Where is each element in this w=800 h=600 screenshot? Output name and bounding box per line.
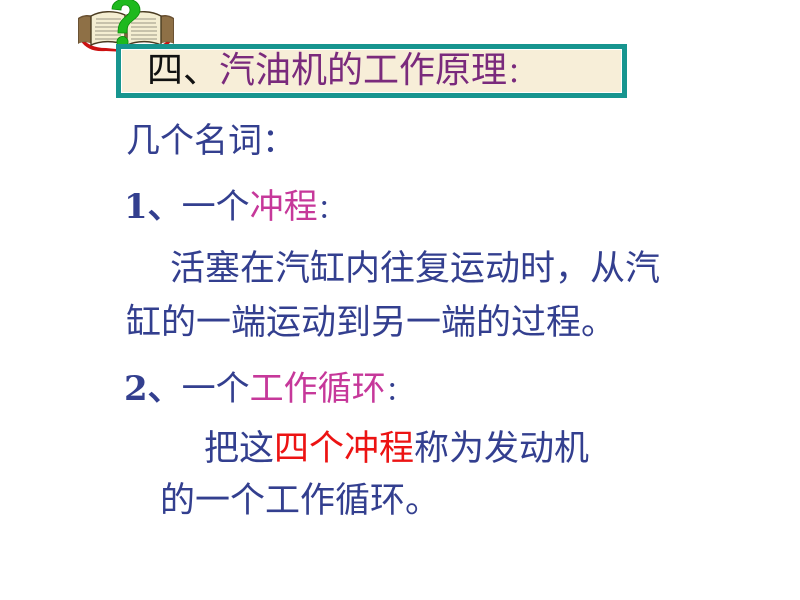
term-item-2: 2、一个工作循环： (124, 372, 412, 406)
term-2-definition-line-2: 的一个工作循环。 (160, 484, 440, 519)
term-item-2-number: 2、 (124, 369, 182, 409)
page-title: 四、汽油机的工作原理： (147, 53, 535, 89)
title-frame: 四、汽油机的工作原理： (116, 44, 627, 98)
slide-canvas: 四、汽油机的工作原理： 几个名词： 1、一个冲程： 活塞在汽缸内往复运动时，从汽… (0, 0, 800, 600)
term-2-definition-pre: 把这 (204, 429, 274, 469)
term-2-definition-highlight: 四个冲程 (274, 429, 414, 469)
term-item-2-colon: ： (386, 376, 413, 407)
term-item-2-term: 工作循环 (250, 369, 386, 409)
term-item-2-lead: 一个 (182, 369, 250, 409)
term-item-1-number: 1、 (124, 187, 182, 227)
term-1-definition-line-2: 缸的一端运动到另一端的过程。 (126, 306, 616, 341)
term-1-definition-line-1: 活塞在汽缸内往复运动时，从汽 (126, 252, 660, 287)
title-main: 汽油机的工作原理 (219, 50, 507, 91)
term-item-1-colon: ： (318, 194, 345, 225)
section-heading-terms: 几个名词： (126, 124, 296, 158)
term-2-definition-line-1: 把这四个冲程称为发动机 (160, 432, 589, 467)
term-item-1-lead: 一个 (182, 187, 250, 227)
title-colon: ： (507, 56, 535, 89)
term-item-1: 1、一个冲程： (124, 190, 344, 224)
term-2-definition-post: 称为发动机 (414, 429, 589, 469)
title-number: 四、 (147, 50, 219, 91)
term-item-1-term: 冲程 (250, 187, 318, 227)
